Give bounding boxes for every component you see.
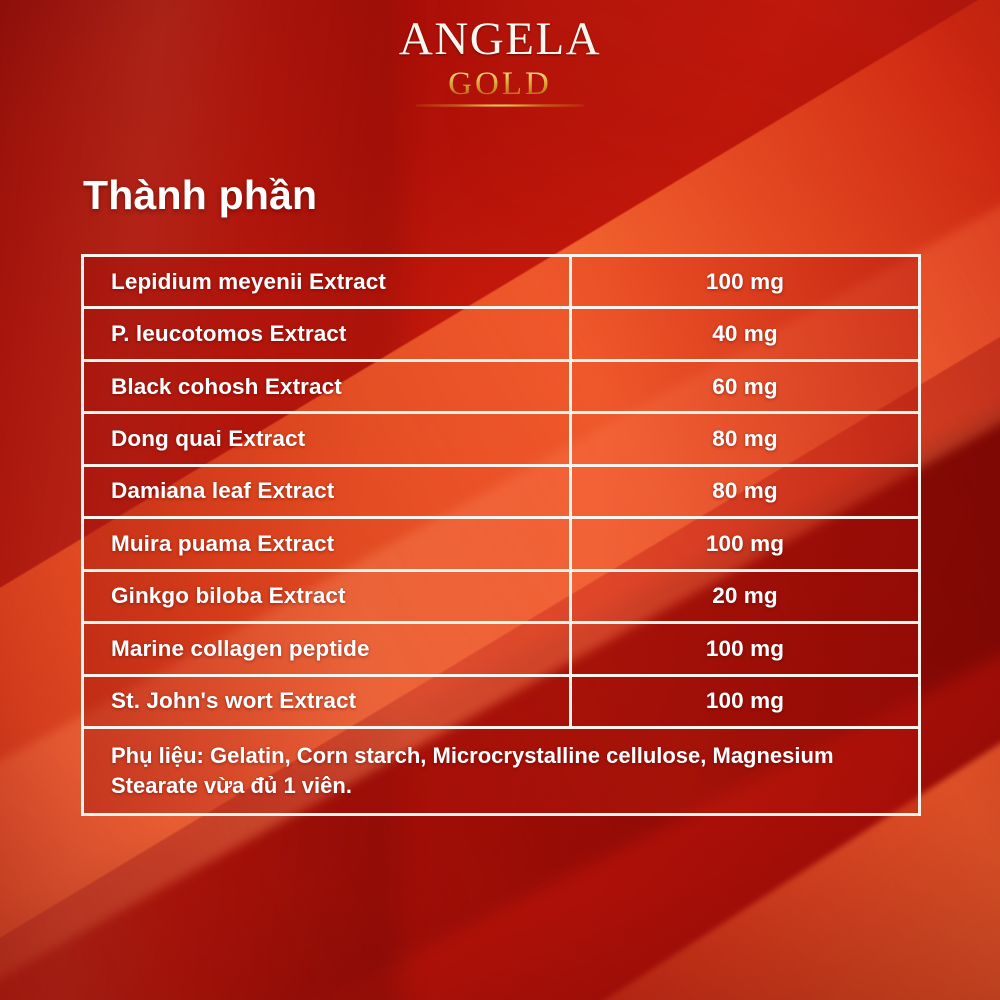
- ingredient-name: P. leucotomos Extract: [84, 309, 572, 358]
- ingredient-amount: 100 mg: [572, 519, 918, 568]
- excipients-note: Phụ liệu: Gelatin, Corn starch, Microcry…: [84, 741, 918, 802]
- ingredient-amount: 40 mg: [572, 309, 918, 358]
- ingredient-amount: 100 mg: [572, 677, 918, 726]
- brand-name: ANGELA: [0, 16, 1000, 63]
- ingredient-name: Marine collagen peptide: [84, 624, 572, 673]
- ingredient-name: Lepidium meyenii Extract: [84, 257, 572, 306]
- ingredient-amount: 100 mg: [572, 624, 918, 673]
- table-row: P. leucotomos Extract 40 mg: [84, 309, 918, 361]
- ingredient-name: St. John's wort Extract: [84, 677, 572, 726]
- table-row: Muira puama Extract 100 mg: [84, 519, 918, 571]
- table-row: Dong quai Extract 80 mg: [84, 414, 918, 466]
- ingredient-amount: 60 mg: [572, 362, 918, 411]
- ingredient-name: Ginkgo biloba Extract: [84, 572, 572, 621]
- brand-underline: [416, 104, 584, 107]
- ingredient-amount: 100 mg: [572, 257, 918, 306]
- page-title: Thành phần: [83, 172, 317, 219]
- ingredient-table: Lepidium meyenii Extract 100 mg P. leuco…: [81, 254, 921, 816]
- ingredient-name: Muira puama Extract: [84, 519, 572, 568]
- table-footnote-row: Phụ liệu: Gelatin, Corn starch, Microcry…: [84, 729, 918, 813]
- ingredient-name: Black cohosh Extract: [84, 362, 572, 411]
- brand-subname: GOLD: [0, 66, 1000, 102]
- ingredient-amount: 80 mg: [572, 467, 918, 516]
- brand-logo: ANGELA GOLD: [0, 16, 1000, 107]
- ingredient-name: Damiana leaf Extract: [84, 467, 572, 516]
- table-row: Marine collagen peptide 100 mg: [84, 624, 918, 676]
- ingredient-amount: 20 mg: [572, 572, 918, 621]
- ingredient-name: Dong quai Extract: [84, 414, 572, 463]
- table-row: Ginkgo biloba Extract 20 mg: [84, 572, 918, 624]
- table-row: Damiana leaf Extract 80 mg: [84, 467, 918, 519]
- product-ingredient-poster: ANGELA GOLD Thành phần Lepidium meyenii …: [0, 0, 1000, 1000]
- ingredient-amount: 80 mg: [572, 414, 918, 463]
- table-row: Lepidium meyenii Extract 100 mg: [84, 257, 918, 309]
- table-row: Black cohosh Extract 60 mg: [84, 362, 918, 414]
- table-row: St. John's wort Extract 100 mg: [84, 677, 918, 729]
